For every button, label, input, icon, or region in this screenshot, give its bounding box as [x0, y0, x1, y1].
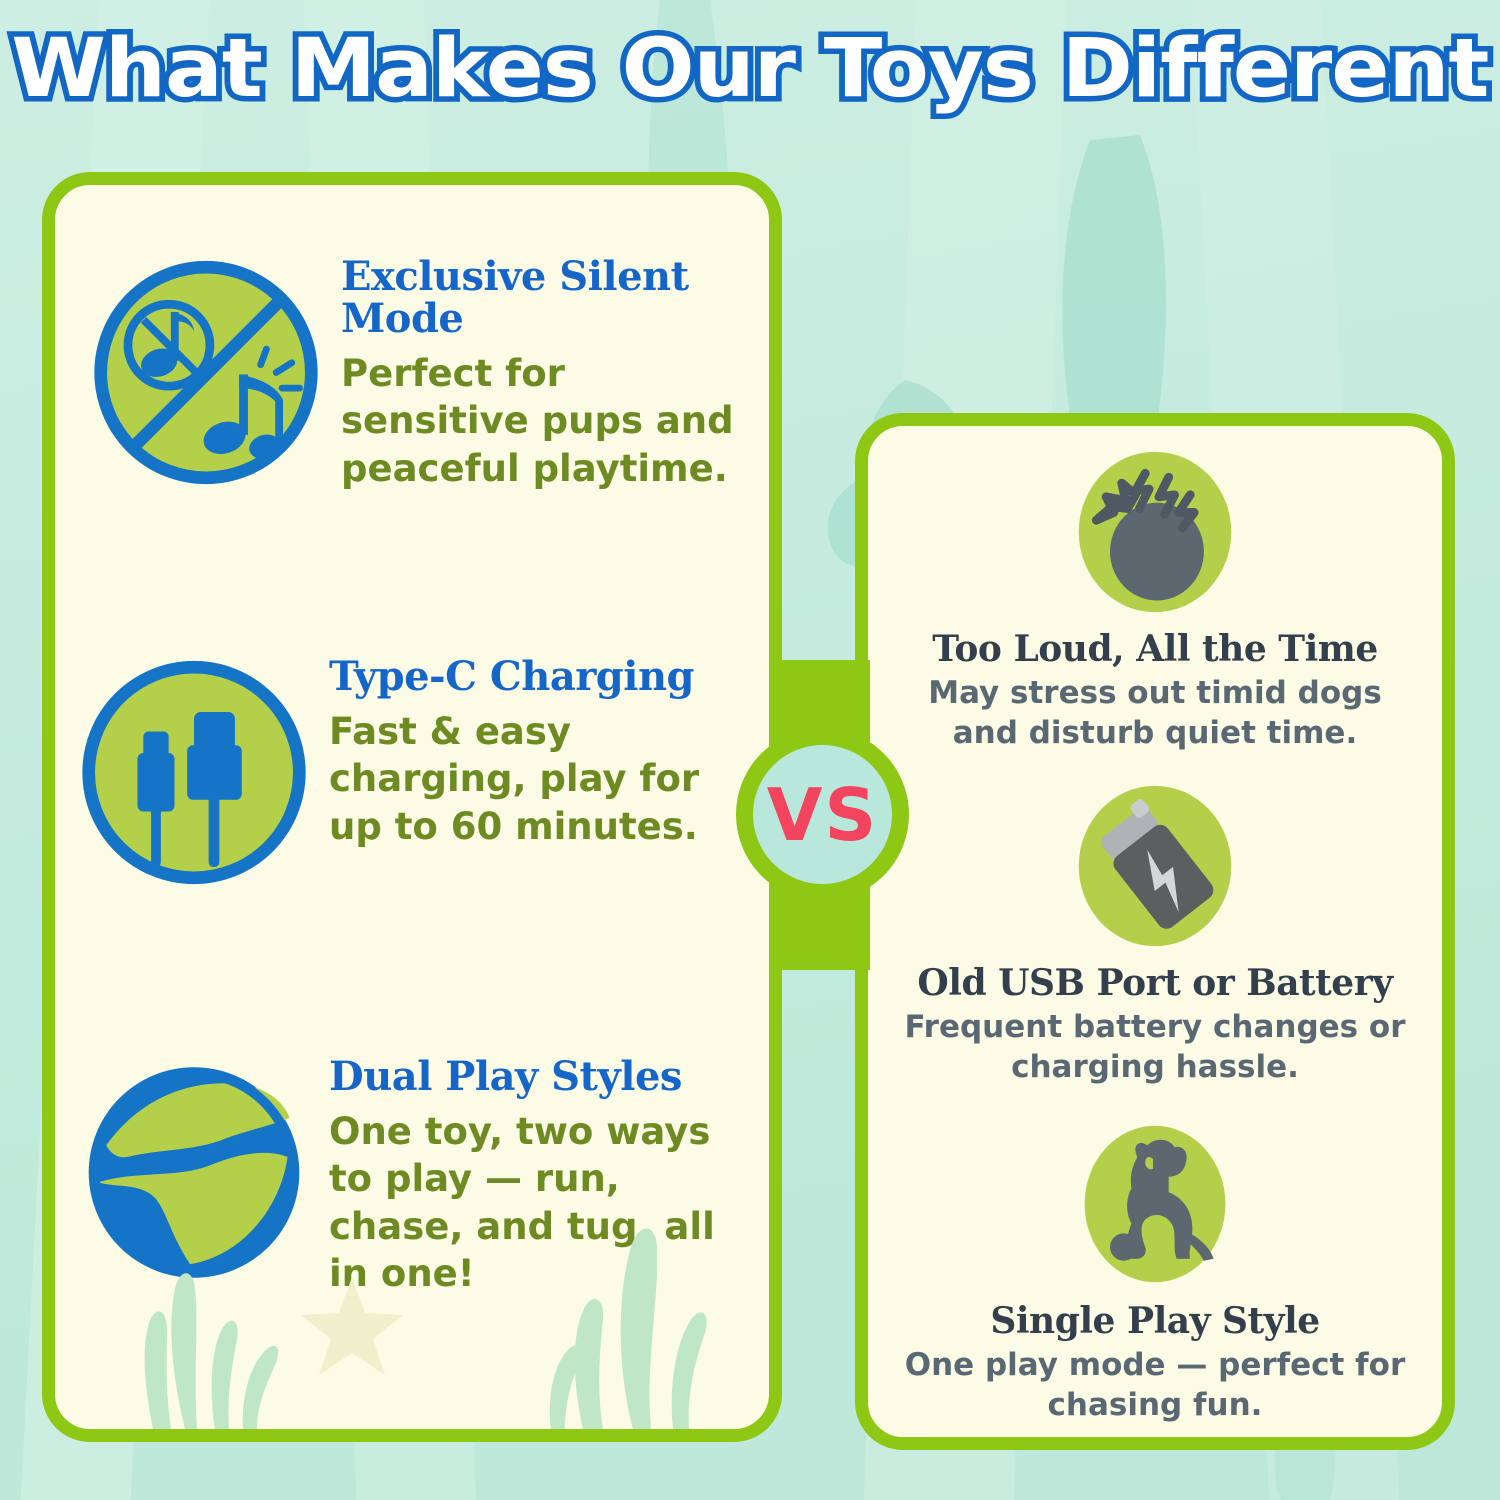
- loud-noise-ball-icon: [1067, 444, 1243, 620]
- feature-body: Fast & easy charging, play for up to 60 …: [329, 708, 757, 850]
- page-title-wrap: What Makes Our Toys Different: [0, 22, 1500, 116]
- feature-body: Perfect for sensitive pups and peaceful …: [341, 350, 749, 492]
- feature-old-usb-battery: Old USB Port or Battery Frequent battery…: [868, 778, 1442, 1087]
- feature-heading: Dual Play Styles: [329, 1056, 757, 1098]
- battery-icon: [1067, 778, 1243, 954]
- feature-heading: Single Play Style: [868, 1303, 1442, 1341]
- feature-body: May stress out timid dogs and disturb qu…: [868, 673, 1442, 754]
- feature-body: One play mode — perfect for chasing fun.: [868, 1345, 1442, 1426]
- pros-card: Exclusive Silent Mode Perfect for sensit…: [42, 172, 782, 1442]
- dog-with-ball-icon: [1067, 1116, 1243, 1292]
- feature-silent-mode: Exclusive Silent Mode Perfect for sensit…: [89, 250, 749, 495]
- feature-too-loud: Too Loud, All the Time May stress out ti…: [868, 444, 1442, 753]
- cons-card: Too Loud, All the Time May stress out ti…: [855, 413, 1455, 1450]
- feature-heading: Type-C Charging: [329, 656, 757, 698]
- feature-text: Type-C Charging Fast & easy charging, pl…: [329, 650, 757, 850]
- usb-type-c-cable-icon: [77, 650, 311, 895]
- seaweed-left-icon: [123, 1219, 323, 1429]
- feature-heading: Too Loud, All the Time: [868, 631, 1442, 669]
- feature-type-c-charging: Type-C Charging Fast & easy charging, pl…: [77, 650, 757, 895]
- vs-badge: VS: [735, 727, 910, 902]
- no-sound-icon: [89, 250, 323, 495]
- starfish-icon: [297, 1271, 407, 1381]
- infographic-canvas: What Makes Our Toys Different: [0, 0, 1500, 1500]
- vs-label: VS: [735, 727, 910, 902]
- feature-single-play-style: Single Play Style One play mode — perfec…: [868, 1116, 1442, 1425]
- feature-text: Exclusive Silent Mode Perfect for sensit…: [341, 250, 749, 492]
- seaweed-right-icon: [513, 1199, 733, 1429]
- feature-body: Frequent battery changes or charging has…: [868, 1007, 1442, 1088]
- feature-heading: Exclusive Silent Mode: [341, 256, 749, 340]
- page-title: What Makes Our Toys Different: [11, 22, 1488, 116]
- feature-heading: Old USB Port or Battery: [868, 965, 1442, 1003]
